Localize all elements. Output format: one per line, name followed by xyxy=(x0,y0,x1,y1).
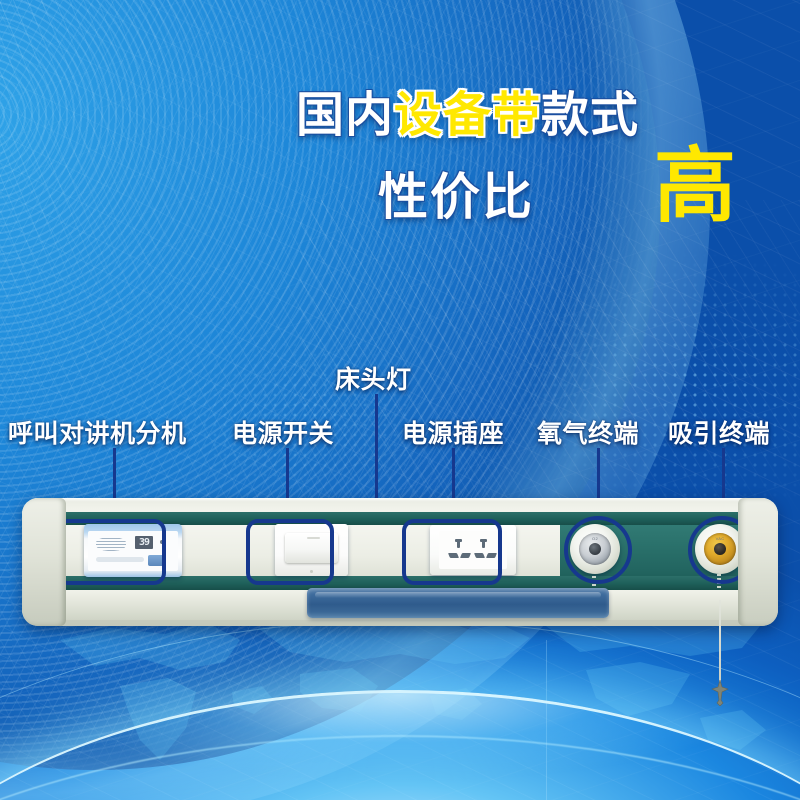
promo-banner: 国内设备带款式 性价比 高 呼叫对讲机分机 电源开关 床头灯 电源插座 氧气终端… xyxy=(0,0,800,800)
headline-part-1: 国内 xyxy=(296,89,394,142)
highlight-oxygen xyxy=(564,516,632,584)
callout-label-suction: 吸引终端 xyxy=(668,414,770,450)
halftone-dot-field xyxy=(370,230,800,510)
headline-part-2: 设备带 xyxy=(394,89,541,142)
headline-block: 国内设备带款式 性价比 高 xyxy=(0,0,800,260)
headline-line-1: 国内设备带款式 xyxy=(296,92,639,140)
drainage-hook-icon xyxy=(710,680,730,706)
highlight-socket xyxy=(402,519,502,585)
lamp-rail-highlight xyxy=(315,592,601,598)
callout-label-intercom: 呼叫对讲机分机 xyxy=(8,414,187,450)
halftone-dot-field-secondary xyxy=(150,330,410,480)
callout-label-bedlamp: 床头灯 xyxy=(335,360,412,396)
highlight-switch xyxy=(246,519,334,585)
headline-emphasis-character: 高 xyxy=(654,146,736,228)
accessory-cord xyxy=(719,600,721,692)
bed-lamp-rail xyxy=(307,588,609,618)
headline-part-3: 款式 xyxy=(541,89,639,142)
callout-label-oxygen: 氧气终端 xyxy=(537,414,639,450)
highlight-intercom xyxy=(56,519,166,585)
callout-label-switch: 电源开关 xyxy=(232,414,334,450)
panel-end-cap-right xyxy=(738,498,778,626)
panel-end-cap-left xyxy=(22,498,66,626)
callout-label-socket: 电源插座 xyxy=(402,414,504,450)
headline-line-2: 性价比 xyxy=(378,172,534,222)
